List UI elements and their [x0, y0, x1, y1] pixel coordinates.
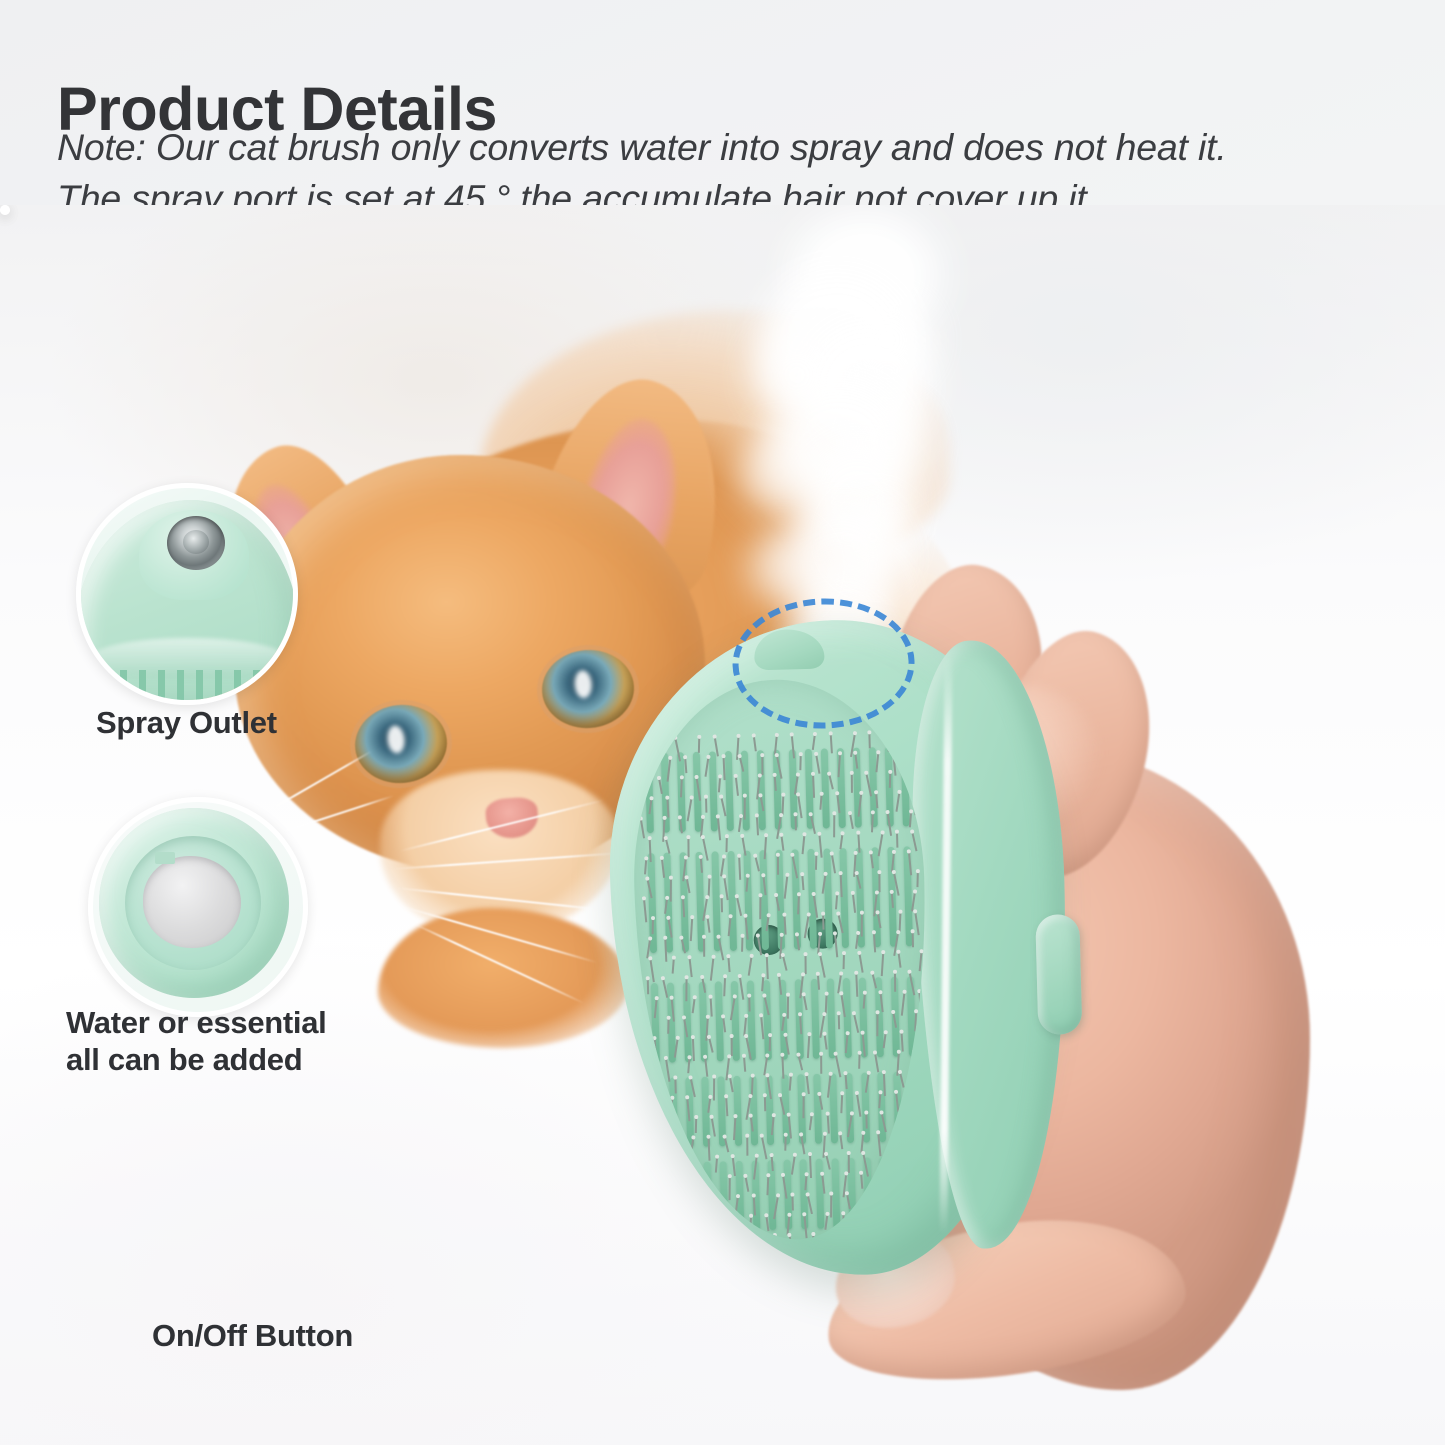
water-reservoir [143, 856, 241, 948]
water-label-line-2: all can be added [66, 1042, 327, 1079]
water-label-line-1: Water or essential [66, 1005, 327, 1042]
callout-label-on-off: On/Off Button [152, 1318, 353, 1355]
note-line-1: Note: Our cat brush only converts water … [57, 122, 1417, 173]
callout-label-spray-outlet: Spray Outlet [96, 705, 277, 742]
bristle-edge [101, 670, 281, 704]
callout-water-tank [88, 797, 308, 1017]
product-details-page: Product Details Note: Our cat brush only… [0, 0, 1445, 1445]
tank-notch [155, 852, 175, 864]
pet-steam-brush[interactable] [604, 614, 1091, 1281]
callout-charging-port [0, 205, 10, 215]
callout-spray-outlet [76, 483, 298, 705]
product-photo-stage: Spray Outlet Water or essential all can … [0, 205, 1445, 1445]
metal-spray-nozzle-icon [167, 516, 225, 570]
brush-side-button[interactable] [1035, 914, 1082, 1035]
callout-label-water-tank: Water or essential all can be added [66, 1005, 327, 1078]
